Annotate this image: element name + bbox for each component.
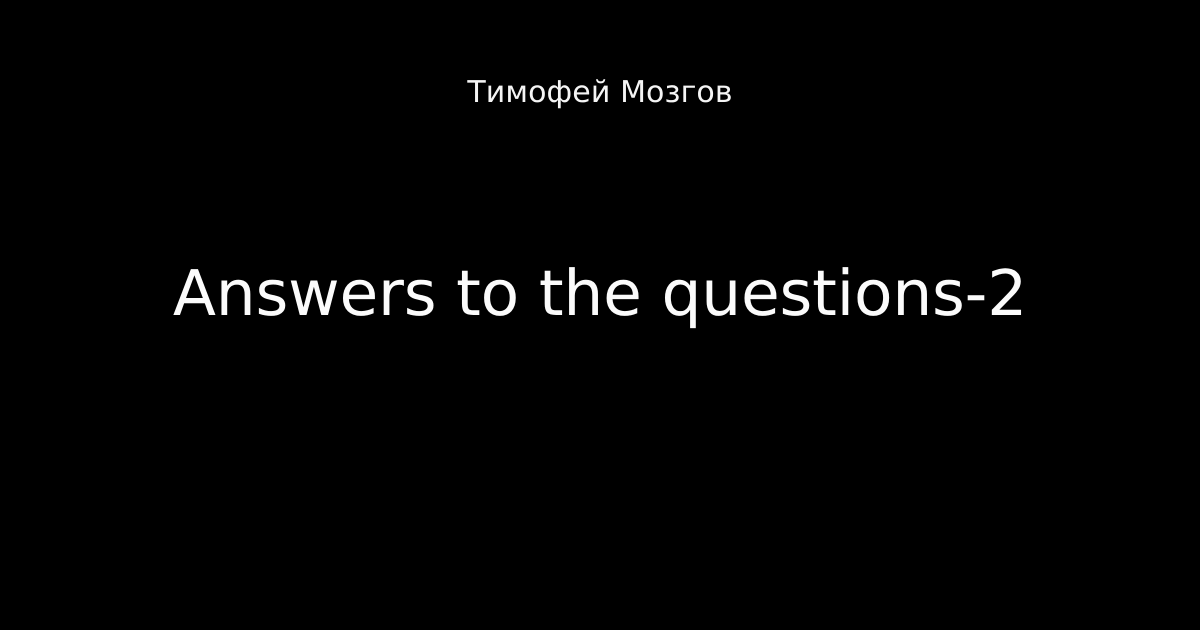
slide-body-empty [0, 342, 1200, 630]
title-line: Answers to the questions-2 [0, 246, 1200, 342]
author-name: Тимофей Мозгов [467, 78, 732, 108]
slide-title: Answers to the questions-2 [173, 261, 1027, 327]
title-slide: Тимофей Мозгов Answers to the questions-… [0, 0, 1200, 630]
author-line: Тимофей Мозгов [0, 0, 1200, 125]
